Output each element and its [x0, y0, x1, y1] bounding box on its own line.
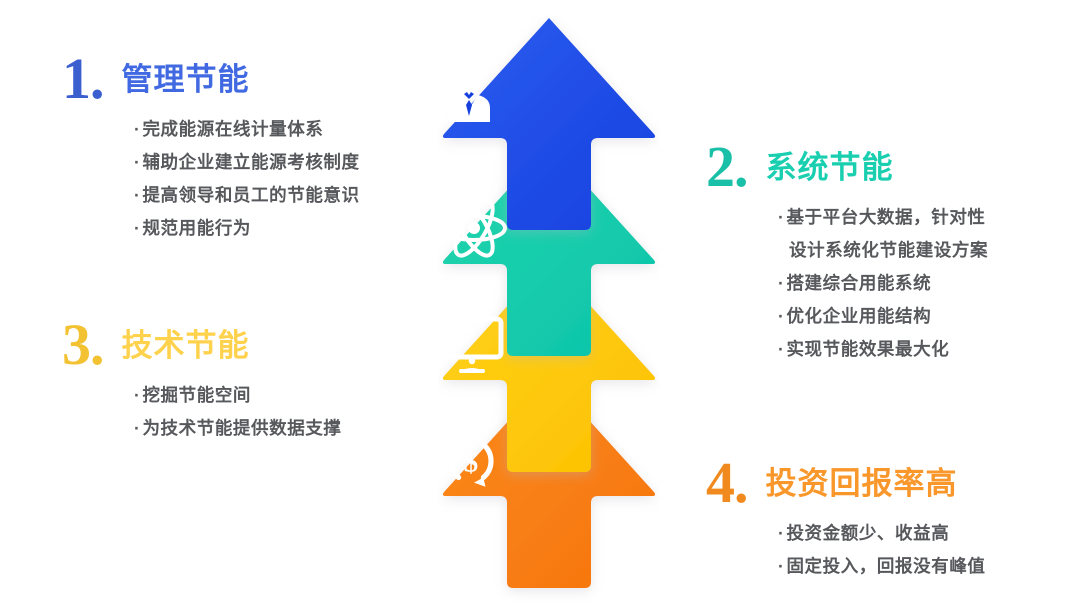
step-3-bullet-list: ·挖掘节能空间 ·为技术节能提供数据支撑: [134, 379, 342, 445]
step-1-header: 1. 管理节能: [62, 52, 360, 105]
list-item: ·辅助企业建立能源考核制度: [134, 146, 360, 179]
list-item: ·搭建综合用能系统: [778, 267, 988, 300]
list-item: ·提高领导和员工的节能意识: [134, 179, 360, 212]
bullet-text: 优化企业用能结构: [786, 306, 931, 326]
list-item: ·挖掘节能空间: [134, 379, 342, 412]
step-4-title: 投资回报率高: [766, 456, 958, 499]
step-block-2: 2. 系统节能 ·基于平台大数据，针对性 设计系统化节能建设方案 ·搭建综合用能…: [706, 140, 988, 366]
list-item-continuation: 设计系统化节能建设方案: [778, 234, 988, 267]
list-item: ·投资金额少、收益高: [778, 517, 986, 550]
step-block-1: 1. 管理节能 ·完成能源在线计量体系 ·辅助企业建立能源考核制度 ·提高领导和…: [62, 52, 360, 245]
step-4-number: 4.: [706, 456, 748, 509]
bullet-text: 实现节能效果最大化: [786, 339, 949, 359]
bullet-text: 基于平台大数据，针对性: [786, 207, 985, 227]
step-3-header: 3. 技术节能: [62, 318, 342, 371]
bullet-dot: ·: [134, 152, 140, 172]
bullet-text: 为技术节能提供数据支撑: [142, 418, 341, 438]
arrow-step-1[interactable]: [438, 14, 660, 244]
bullet-text: 固定投入，回报没有峰值: [786, 556, 985, 576]
bullet-text: 投资金额少、收益高: [786, 523, 949, 543]
bullet-text: 挖掘节能空间: [142, 385, 251, 405]
bullet-text: 辅助企业建立能源考核制度: [142, 152, 359, 172]
list-item: ·完成能源在线计量体系: [134, 113, 360, 146]
bullet-dot: ·: [134, 218, 140, 238]
step-2-number: 2.: [706, 140, 748, 193]
bullet-dot: ·: [134, 385, 140, 405]
infographic-canvas: $: [0, 0, 1080, 608]
arrow-shape-1: [443, 18, 655, 230]
bullet-dot: ·: [134, 119, 140, 139]
bullet-text: 搭建综合用能系统: [786, 273, 931, 293]
step-1-title: 管理节能: [122, 52, 250, 95]
bullet-dot: ·: [778, 339, 784, 359]
bullet-text: 规范用能行为: [142, 218, 251, 238]
bullet-dot: ·: [134, 185, 140, 205]
list-item: ·基于平台大数据，针对性: [778, 201, 988, 234]
list-item: ·优化企业用能结构: [778, 300, 988, 333]
bullet-dot: ·: [778, 556, 784, 576]
step-1-number: 1.: [62, 52, 104, 105]
step-3-number: 3.: [62, 318, 104, 371]
bullet-text: 设计系统化节能建设方案: [789, 240, 988, 260]
step-4-header: 4. 投资回报率高: [706, 456, 986, 509]
list-item: ·实现节能效果最大化: [778, 333, 988, 366]
bullet-dot: ·: [778, 207, 784, 227]
step-4-bullet-list: ·投资金额少、收益高 ·固定投入，回报没有峰值: [778, 517, 986, 583]
bullet-dot: ·: [778, 523, 784, 543]
arrow-stack: $: [438, 0, 660, 608]
step-2-bullet-list: ·基于平台大数据，针对性 设计系统化节能建设方案 ·搭建综合用能系统 ·优化企业…: [778, 201, 988, 366]
bullet-dot: ·: [134, 418, 140, 438]
list-item: ·规范用能行为: [134, 212, 360, 245]
step-block-4: 4. 投资回报率高 ·投资金额少、收益高 ·固定投入，回报没有峰值: [706, 456, 986, 583]
bullet-text: 提高领导和员工的节能意识: [142, 185, 359, 205]
step-3-title: 技术节能: [122, 318, 250, 361]
list-item: ·为技术节能提供数据支撑: [134, 412, 342, 445]
bullet-dot: ·: [778, 306, 784, 326]
step-2-header: 2. 系统节能: [706, 140, 988, 193]
bullet-text: 完成能源在线计量体系: [142, 119, 323, 139]
list-item: ·固定投入，回报没有峰值: [778, 550, 986, 583]
bullet-dot: ·: [778, 273, 784, 293]
step-2-title: 系统节能: [766, 140, 894, 183]
step-1-bullet-list: ·完成能源在线计量体系 ·辅助企业建立能源考核制度 ·提高领导和员工的节能意识 …: [134, 113, 360, 245]
step-block-3: 3. 技术节能 ·挖掘节能空间 ·为技术节能提供数据支撑: [62, 318, 342, 445]
